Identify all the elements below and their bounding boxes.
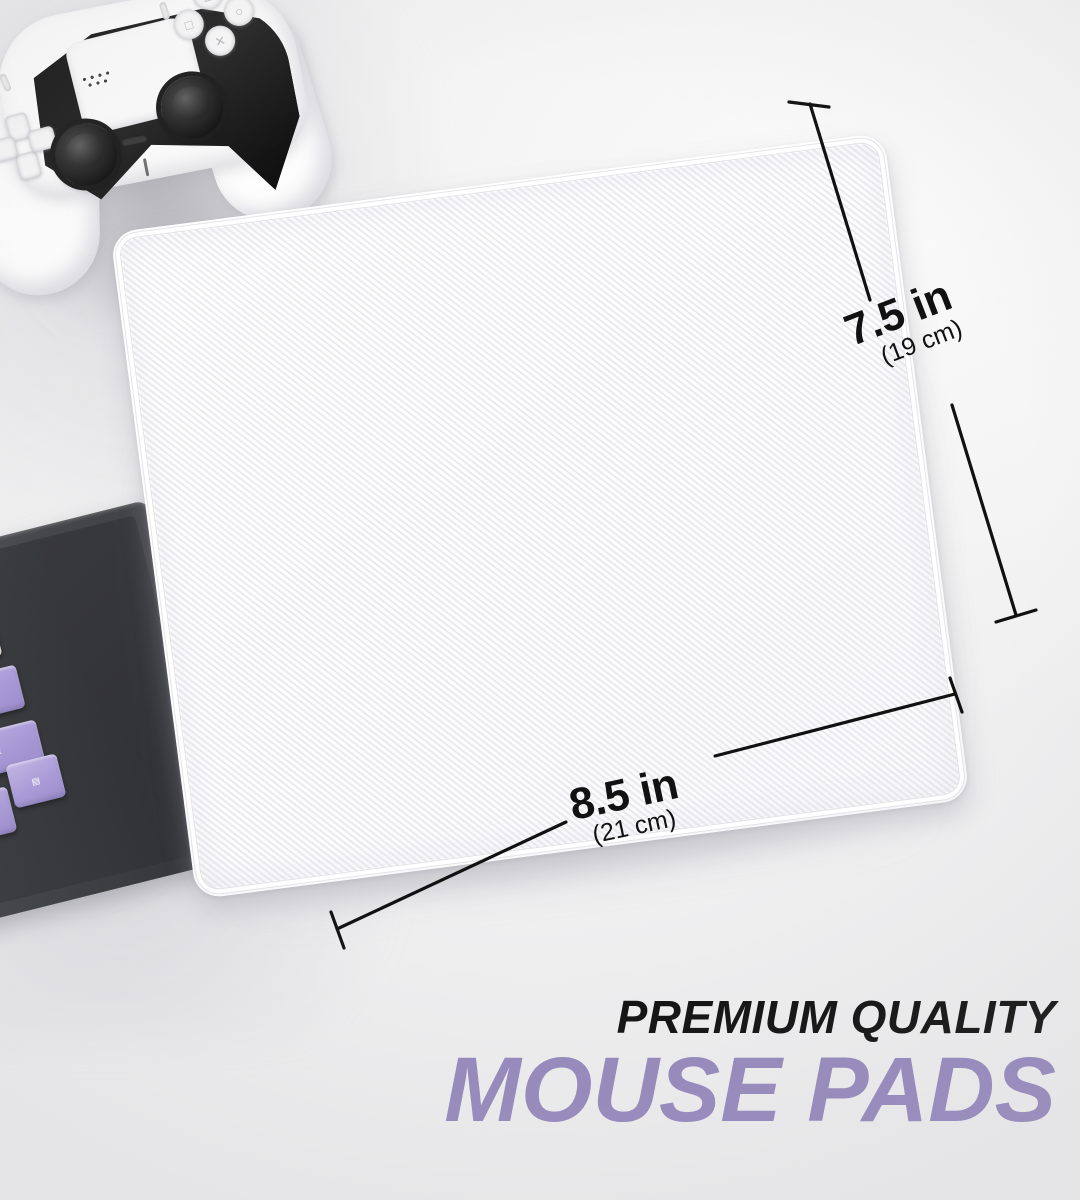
height-tick-top: [789, 102, 829, 107]
marketing-text-block: PREMIUM QUALITY MOUSE PADS: [0, 994, 1056, 1138]
marketing-headline: MOUSE PADS: [0, 1044, 1056, 1138]
product-image-canvas: △ ○ □ ✕ ←Backspace += |\ }]: [0, 0, 1080, 1200]
marketing-kicker: PREMIUM QUALITY: [0, 994, 1056, 1040]
height-tick-bottom: [996, 610, 1036, 622]
cross-button-icon: ✕: [202, 22, 239, 59]
square-button-icon: □: [170, 6, 207, 43]
mouse-pad-surface: [120, 143, 960, 890]
height-line-lower: [952, 405, 1016, 615]
circle-button-icon: ○: [221, 0, 258, 29]
mouse-pad: [110, 133, 970, 900]
